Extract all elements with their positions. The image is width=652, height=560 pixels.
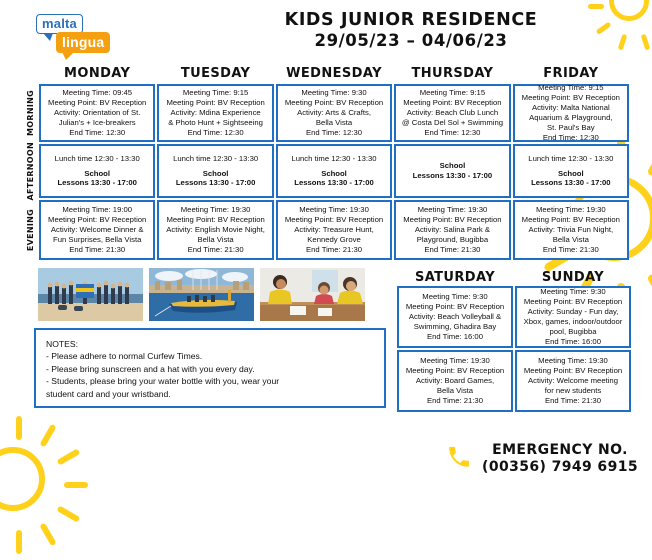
cell-day-saturday[interactable]: Meeting Time: 9:30 Meeting Point: BV Rec…	[397, 286, 513, 348]
activity-line-2: for new students	[519, 386, 627, 396]
end-time: End Time: 12:30	[517, 133, 625, 143]
end-time: End Time: 21:30	[43, 245, 151, 255]
lunch-time: Lunch time 12:30 - 13:30	[280, 154, 388, 164]
meeting-point: Meeting Point: BV Reception	[280, 215, 388, 225]
meeting-time: Meeting Time: 9:30	[519, 287, 627, 297]
activity-line-1: Activity: Beach Club Lunch	[398, 108, 506, 118]
weekday-header-sunday: SUNDAY	[514, 270, 632, 285]
weekday-header-wednesday: WEDNESDAY	[275, 66, 393, 81]
activity-line-2: Julian's + Ice-breakers	[43, 118, 151, 128]
activity-line-1: Activity: Salina Park &	[398, 225, 506, 235]
phone-icon	[446, 444, 472, 475]
maltalingua-logo: malta lingua	[30, 12, 122, 56]
end-time: End Time: 21:30	[161, 245, 269, 255]
weekday-header-row: MONDAY TUESDAY WEDNESDAY THURSDAY FRIDAY	[38, 66, 630, 81]
emergency-text: EMERGENCY NO. (00356) 7949 6915	[482, 442, 638, 476]
meeting-point: Meeting Point: BV Reception	[43, 215, 151, 225]
schedule-grid: MORNING AFTERNOON EVENING Meeting Time: …	[22, 83, 630, 261]
lunch-time: Lunch time 12:30 - 13:30	[161, 154, 269, 164]
morning-row: Meeting Time: 09:45 Meeting Point: BV Re…	[38, 83, 630, 143]
weekend-header-row: SATURDAY SUNDAY	[396, 270, 632, 285]
weekend-schedule: SATURDAY SUNDAY Meeting Time: 9:30 Meeti…	[396, 270, 632, 413]
meeting-point: Meeting Point: BV Reception	[398, 215, 506, 225]
lunch-time: Lunch time 12:30 - 13:30	[43, 154, 151, 164]
end-time: End Time: 21:30	[398, 245, 506, 255]
cell-evening-saturday[interactable]: Meeting Time: 19:30 Meeting Point: BV Re…	[397, 350, 513, 412]
end-time: End Time: 12:30	[43, 128, 151, 138]
sun-core	[0, 447, 45, 511]
meeting-time: Meeting Time: 9:30	[280, 88, 388, 98]
activity-line-1: Activity: Welcome Dinner &	[43, 225, 151, 235]
school-label: School	[398, 161, 506, 171]
group-on-beach-photo	[38, 268, 143, 321]
cell-afternoon-thursday[interactable]: School Lessons 13:30 - 17:00	[394, 144, 510, 198]
logo-lingua-text: lingua	[56, 32, 110, 53]
notes-line-2: - Please bring sunscreen and a hat with …	[46, 363, 374, 375]
school-label: School	[517, 169, 625, 179]
date-range-text: 29/05/23 – 04/06/23	[190, 31, 632, 51]
activity-line-2: Fun Surprises, Bella Vista	[43, 235, 151, 245]
activity-line-2: Bella Vista	[517, 235, 625, 245]
activity-line-3: St. Paul's Bay	[517, 123, 625, 133]
end-time: End Time: 16:00	[519, 337, 627, 347]
meeting-time: Meeting Time: 19:30	[517, 205, 625, 215]
end-time: End Time: 21:30	[517, 245, 625, 255]
weekday-header-monday: MONDAY	[38, 66, 156, 81]
cell-afternoon-tuesday[interactable]: Lunch time 12:30 - 13:30 School Lessons …	[157, 144, 273, 198]
meeting-time: Meeting Time: 9:15	[398, 88, 506, 98]
lunch-time: Lunch time 12:30 - 13:30	[517, 154, 625, 164]
meeting-point: Meeting Point: BV Reception	[161, 215, 269, 225]
weekday-header-friday: FRIDAY	[512, 66, 630, 81]
school-label: School	[161, 169, 269, 179]
activity-line-1: Activity: English Movie Night,	[161, 225, 269, 235]
end-time: End Time: 12:30	[398, 128, 506, 138]
cell-morning-tuesday[interactable]: Meeting Time: 9:15 Meeting Point: BV Rec…	[157, 84, 273, 142]
activity-line-1: Activity: Treasure Hunt,	[280, 225, 388, 235]
activity-line-2: Bella Vista	[401, 386, 509, 396]
activity-line-1: Activity: Malta National	[517, 103, 625, 113]
sun-decoration-bottom-left	[0, 410, 94, 560]
end-time: End Time: 21:30	[280, 245, 388, 255]
school-label: School	[43, 169, 151, 179]
afternoon-row: Lunch time 12:30 - 13:30 School Lessons …	[38, 143, 630, 199]
sun-ray	[16, 416, 22, 440]
activity-line-1: Activity: Mdina Experience	[161, 108, 269, 118]
row-label-column: MORNING AFTERNOON EVENING	[22, 83, 38, 261]
meeting-time: Meeting Time: 19:30	[161, 205, 269, 215]
lessons-time: Lessons 13:30 - 17:00	[398, 171, 506, 181]
weekend-day-row: Meeting Time: 9:30 Meeting Point: BV Rec…	[396, 285, 632, 349]
meeting-point: Meeting Point: BV Reception	[280, 98, 388, 108]
logo-lingua-tail	[62, 52, 74, 60]
activity-line-2: @ Costa Del Sol + Swimming	[398, 118, 506, 128]
notes-box: NOTES: - Please adhere to normal Curfew …	[34, 328, 386, 408]
activity-line-2: Bella Vista	[161, 235, 269, 245]
meeting-time: Meeting Time: 9:15	[517, 83, 625, 93]
photo-strip	[38, 268, 365, 321]
cell-morning-wednesday[interactable]: Meeting Time: 9:30 Meeting Point: BV Rec…	[276, 84, 392, 142]
poster-header: malta lingua KIDS JUNIOR RESIDENCE 29/05…	[0, 0, 652, 66]
cell-afternoon-friday[interactable]: Lunch time 12:30 - 13:30 School Lessons …	[513, 144, 629, 198]
end-time: End Time: 21:30	[401, 396, 509, 406]
cell-evening-tuesday[interactable]: Meeting Time: 19:30 Meeting Point: BV Re…	[157, 200, 273, 260]
cell-evening-wednesday[interactable]: Meeting Time: 19:30 Meeting Point: BV Re…	[276, 200, 392, 260]
cell-evening-sunday[interactable]: Meeting Time: 19:30 Meeting Point: BV Re…	[515, 350, 631, 412]
activity-line-2: Playground, Bugibba	[398, 235, 506, 245]
sun-ray	[647, 273, 652, 303]
end-time: End Time: 16:00	[401, 332, 509, 342]
logo-malta-text: malta	[36, 14, 83, 34]
notes-line-1: - Please adhere to normal Curfew Times.	[46, 350, 374, 362]
cell-afternoon-monday[interactable]: Lunch time 12:30 - 13:30 School Lessons …	[39, 144, 155, 198]
row-label-evening: EVENING	[22, 199, 38, 261]
meeting-time: Meeting Time: 19:30	[401, 356, 509, 366]
meeting-time: Meeting Time: 19:30	[519, 356, 627, 366]
evening-row: Meeting Time: 19:00 Meeting Point: BV Re…	[38, 199, 630, 261]
meeting-time: Meeting Time: 9:15	[161, 88, 269, 98]
activity-line-1: Activity: Sunday - Fun day,	[519, 307, 627, 317]
cell-morning-thursday[interactable]: Meeting Time: 9:15 Meeting Point: BV Rec…	[394, 84, 510, 142]
cell-afternoon-wednesday[interactable]: Lunch time 12:30 - 13:30 School Lessons …	[276, 144, 392, 198]
activity-line-1: Activity: Beach Volleyball &	[401, 312, 509, 322]
activity-line-2: Aquarium & Playground,	[517, 113, 625, 123]
activity-line-2: Xbox, games, indoor/outdoor	[519, 317, 627, 327]
emergency-label: EMERGENCY NO.	[482, 442, 638, 459]
emergency-number: (00356) 7949 6915	[482, 459, 638, 476]
activity-line-2: Kennedy Grove	[280, 235, 388, 245]
activity-line-1: Activity: Trivia Fun Night,	[517, 225, 625, 235]
school-label: School	[280, 169, 388, 179]
cell-evening-monday[interactable]: Meeting Time: 19:00 Meeting Point: BV Re…	[39, 200, 155, 260]
logo-malta-tail	[43, 33, 53, 41]
weekday-header-thursday: THURSDAY	[393, 66, 511, 81]
notes-line-4: student card and your wristband.	[46, 388, 374, 400]
meeting-point: Meeting Point: BV Reception	[401, 366, 509, 376]
meeting-point: Meeting Point: BV Reception	[43, 98, 151, 108]
cell-morning-monday[interactable]: Meeting Time: 09:45 Meeting Point: BV Re…	[39, 84, 155, 142]
students-classroom-photo	[260, 268, 365, 321]
notes-line-3: - Students, please bring your water bott…	[46, 375, 374, 387]
lessons-time: Lessons 13:30 - 17:00	[43, 178, 151, 188]
cell-evening-friday[interactable]: Meeting Time: 19:30 Meeting Point: BV Re…	[513, 200, 629, 260]
title-text: KIDS JUNIOR RESIDENCE	[190, 10, 632, 31]
sun-ray	[39, 522, 56, 546]
activity-line-1: Activity: Orientation of St.	[43, 108, 151, 118]
end-time: End Time: 12:30	[161, 128, 269, 138]
meeting-time: Meeting Time: 19:30	[280, 205, 388, 215]
lessons-time: Lessons 13:30 - 17:00	[517, 178, 625, 188]
activity-line-2: Bella Vista	[280, 118, 388, 128]
end-time: End Time: 12:30	[280, 128, 388, 138]
meeting-time: Meeting Time: 19:00	[43, 205, 151, 215]
lessons-time: Lessons 13:30 - 17:00	[161, 178, 269, 188]
lessons-time: Lessons 13:30 - 17:00	[280, 178, 388, 188]
cell-day-sunday[interactable]: Meeting Time: 9:30 Meeting Point: BV Rec…	[515, 286, 631, 348]
meeting-time: Meeting Time: 9:30	[401, 292, 509, 302]
emergency-contact: EMERGENCY NO. (00356) 7949 6915	[446, 442, 638, 476]
sun-ray	[56, 448, 80, 465]
meeting-point: Meeting Point: BV Reception	[398, 98, 506, 108]
weekday-header-tuesday: TUESDAY	[156, 66, 274, 81]
sun-ray	[56, 505, 80, 522]
weekend-evening-row: Meeting Time: 19:30 Meeting Point: BV Re…	[396, 349, 632, 413]
end-time: End Time: 21:30	[519, 396, 627, 406]
sun-ray	[39, 424, 56, 448]
meeting-point: Meeting Point: BV Reception	[517, 93, 625, 103]
meeting-point: Meeting Point: BV Reception	[517, 215, 625, 225]
sun-ray	[64, 482, 88, 488]
cell-evening-thursday[interactable]: Meeting Time: 19:30 Meeting Point: BV Re…	[394, 200, 510, 260]
notes-heading: NOTES:	[46, 338, 374, 350]
meeting-point: Meeting Point: BV Reception	[401, 302, 509, 312]
activity-line-3: pool, Bugibba	[519, 327, 627, 337]
meeting-point: Meeting Point: BV Reception	[519, 366, 627, 376]
traditional-boat-harbour-photo	[149, 268, 254, 321]
meeting-point: Meeting Point: BV Reception	[161, 98, 269, 108]
row-label-afternoon: AFTERNOON	[22, 143, 38, 199]
activity-line-1: Activity: Arts & Crafts,	[280, 108, 388, 118]
activity-line-1: Activity: Board Games,	[401, 376, 509, 386]
sun-ray	[647, 147, 652, 177]
row-label-morning: MORNING	[22, 83, 38, 143]
weekday-header-saturday: SATURDAY	[396, 270, 514, 285]
meeting-point: Meeting Point: BV Reception	[519, 297, 627, 307]
cell-morning-friday[interactable]: Meeting Time: 9:15 Meeting Point: BV Rec…	[513, 84, 629, 142]
activity-line-2: Swimming, Ghadira Bay	[401, 322, 509, 332]
activity-line-1: Activity: Welcome meeting	[519, 376, 627, 386]
sun-ray	[16, 530, 22, 554]
page-title: KIDS JUNIOR RESIDENCE 29/05/23 – 04/06/2…	[190, 10, 632, 51]
meeting-time: Meeting Time: 09:45	[43, 88, 151, 98]
meeting-time: Meeting Time: 19:30	[398, 205, 506, 215]
activity-line-2: & Photo Hunt + Sightseeing	[161, 118, 269, 128]
